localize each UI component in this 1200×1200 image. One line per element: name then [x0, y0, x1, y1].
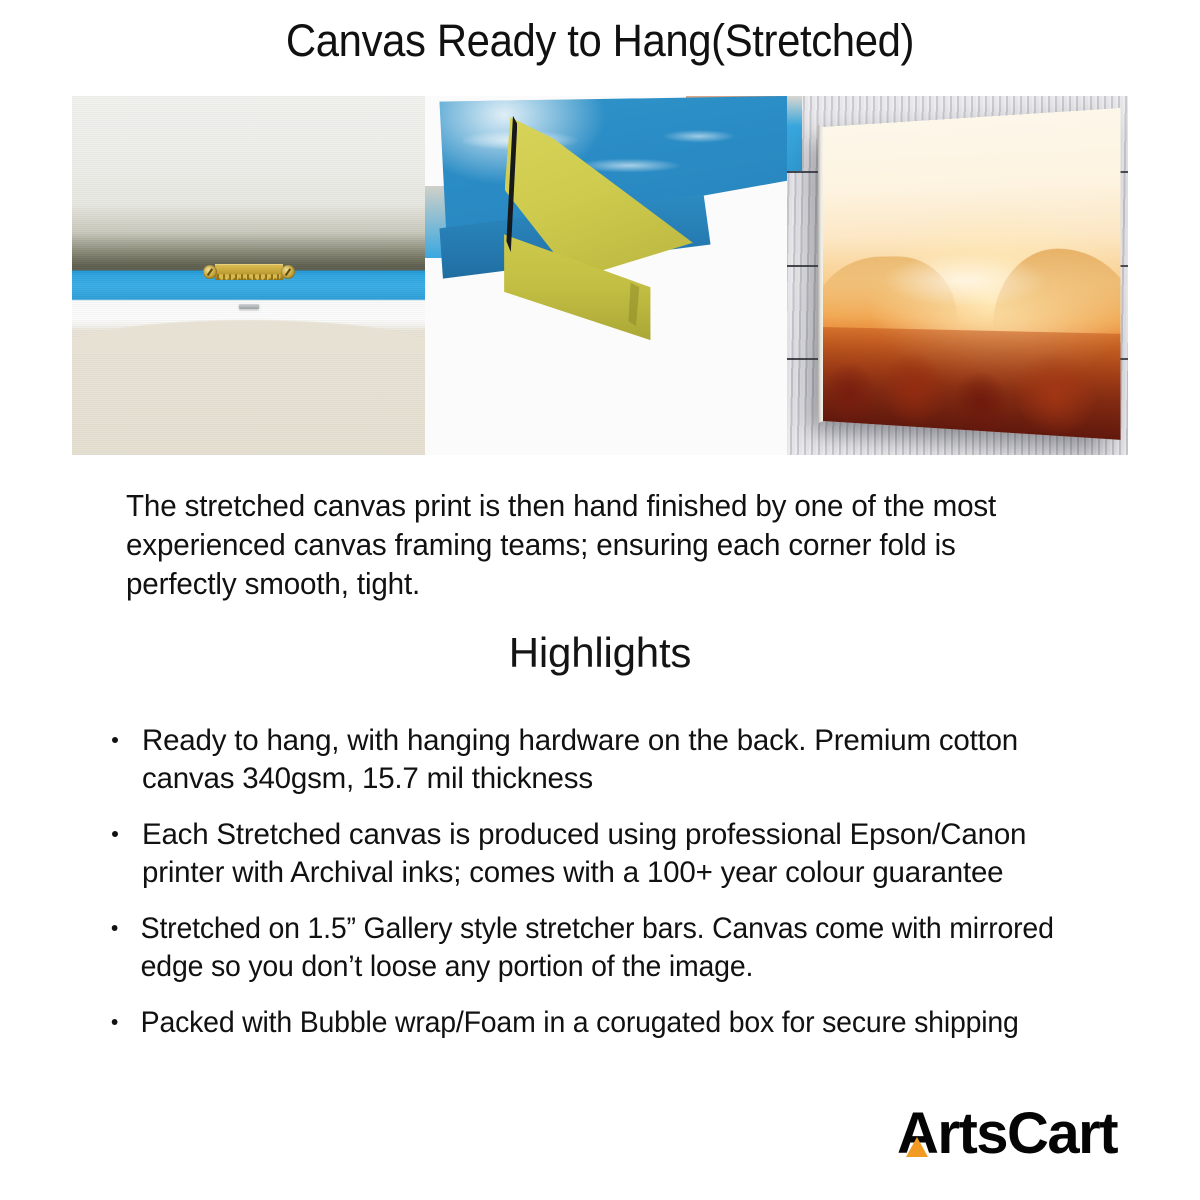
- intro-paragraph: The stretched canvas print is then hand …: [126, 487, 1043, 604]
- landscape-sun-haze: [871, 241, 1061, 319]
- hanger-bracket-clip: [239, 304, 259, 309]
- list-item: Stretched on 1.5” Gallery style stretche…: [104, 910, 1079, 986]
- orange-triangle-icon: [906, 1137, 928, 1157]
- hanging-hardware-photo: [72, 96, 425, 455]
- highlights-list: Ready to hang, with hanging hardware on …: [104, 722, 1114, 1060]
- brand-logo: A rtsCart: [897, 1103, 1117, 1165]
- bullet-dot-icon: [112, 925, 118, 931]
- list-item: Ready to hang, with hanging hardware on …: [104, 722, 1114, 798]
- canvas-gallery-wrap-side: [818, 124, 823, 423]
- logo-letter-a: A: [897, 1103, 937, 1165]
- bullet-dot-icon: [112, 1019, 118, 1025]
- sawtooth-hanger-icon: [203, 263, 295, 281]
- list-item-text: Packed with Bubble wrap/Foam in a coruga…: [141, 1006, 1019, 1039]
- page-title: Canvas Ready to Hang(Stretched): [42, 14, 1158, 68]
- corner-fold-photo: [425, 96, 787, 455]
- logo-name-rest: rtsCart: [937, 1103, 1117, 1165]
- landscape-foliage: [823, 327, 1120, 440]
- bullet-dot-icon: [112, 737, 118, 743]
- list-item-text: Ready to hang, with hanging hardware on …: [142, 724, 1018, 795]
- hanger-screw-left: [203, 265, 217, 279]
- wall-mounted-photo: [787, 96, 1128, 455]
- bullet-dot-icon: [112, 831, 118, 837]
- product-photo-strip: [72, 96, 1128, 455]
- hanger-screw-right: [281, 265, 295, 279]
- list-item-text: Stretched on 1.5” Gallery style stretche…: [141, 912, 1054, 983]
- canvas-printed-face: [823, 108, 1120, 440]
- adjacent-blue-canvas-sliver: [787, 96, 802, 171]
- highlights-heading: Highlights: [0, 627, 1200, 679]
- list-item-text: Each Stretched canvas is produced using …: [142, 818, 1026, 889]
- list-item: Each Stretched canvas is produced using …: [104, 816, 1114, 892]
- list-item: Packed with Bubble wrap/Foam in a coruga…: [104, 1004, 1079, 1042]
- mounted-canvas: [823, 108, 1120, 440]
